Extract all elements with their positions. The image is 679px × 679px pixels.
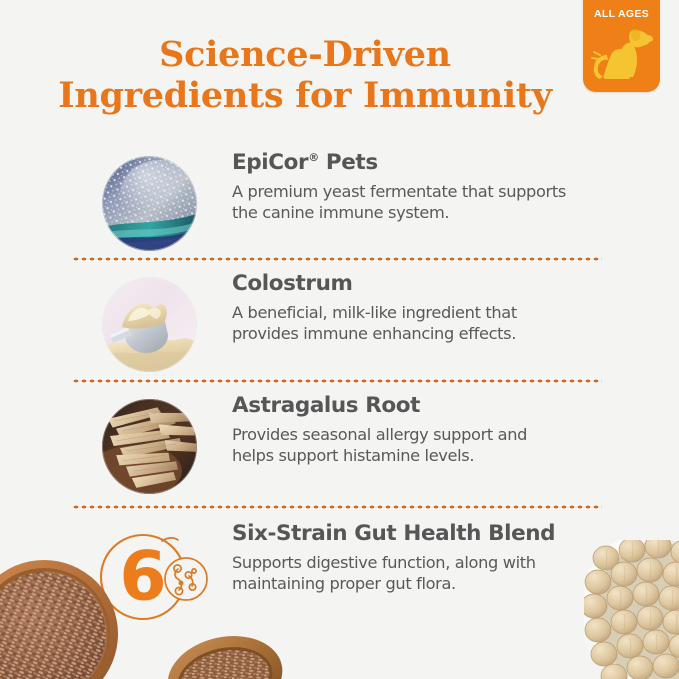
ingredient-text-epicor: EpiCor® Pets A premium yeast fermentate … <box>232 150 632 223</box>
ingredient-name: Six-Strain Gut Health Blend <box>232 521 555 546</box>
colostrum-powder-scoop-photo <box>102 277 197 372</box>
ingredient-description: Supports digestive function, along with … <box>232 552 572 594</box>
ingredient-name: Colostrum <box>232 271 352 296</box>
ingredient-row-colostrum: Colostrum A beneficial, milk-like ingred… <box>0 269 679 374</box>
ingredient-description: A beneficial, milk-like ingredient that … <box>232 302 572 344</box>
ingredient-text-six-strain: Six-Strain Gut Health Blend Supports dig… <box>232 521 632 594</box>
ingredient-row-epicor: EpiCor® Pets A premium yeast fermentate … <box>0 148 679 253</box>
astragalus-root-slices-photo <box>102 399 197 494</box>
page-title: Science-Driven Ingredients for Immunity <box>0 34 610 117</box>
all-ages-badge: ALL AGES <box>583 0 660 92</box>
ingredient-title: Six-Strain Gut Health Blend <box>232 521 632 547</box>
chickpeas-white-bowl-photo <box>584 540 679 679</box>
flaxseed-wooden-bowl-photo <box>0 558 120 679</box>
ingredient-name-suffix: Pets <box>319 150 378 175</box>
sitting-dog-icon <box>590 25 654 83</box>
page-title-line-2: Ingredients for Immunity <box>0 75 610 116</box>
ingredient-text-astragalus: Astragalus Root Provides seasonal allerg… <box>232 393 632 466</box>
six-numeral: 6 <box>119 538 166 617</box>
ingredient-description: A premium yeast fermentate that supports… <box>232 181 572 223</box>
all-ages-badge-label: ALL AGES <box>583 8 660 20</box>
ingredient-title: EpiCor® Pets <box>232 150 632 176</box>
row-divider <box>72 379 602 383</box>
ingredient-text-colostrum: Colostrum A beneficial, milk-like ingred… <box>232 271 632 344</box>
petri-dish-culture-photo <box>102 156 197 251</box>
trademark-symbol: ® <box>308 151 319 164</box>
ingredient-title: Astragalus Root <box>232 393 632 419</box>
ingredient-title: Colostrum <box>232 271 632 297</box>
row-divider <box>72 257 602 261</box>
ingredient-description: Provides seasonal allergy support and he… <box>232 424 572 466</box>
ingredient-name: EpiCor <box>232 150 308 175</box>
ingredient-name: Astragalus Root <box>232 393 420 418</box>
ingredient-row-astragalus: Astragalus Root Provides seasonal allerg… <box>0 391 679 496</box>
ingredients-infographic: Science-Driven Ingredients for Immunity … <box>0 0 679 679</box>
page-title-line-1: Science-Driven <box>0 34 610 75</box>
row-divider <box>72 505 602 509</box>
flaxseed-wooden-spoon-photo <box>163 633 295 679</box>
